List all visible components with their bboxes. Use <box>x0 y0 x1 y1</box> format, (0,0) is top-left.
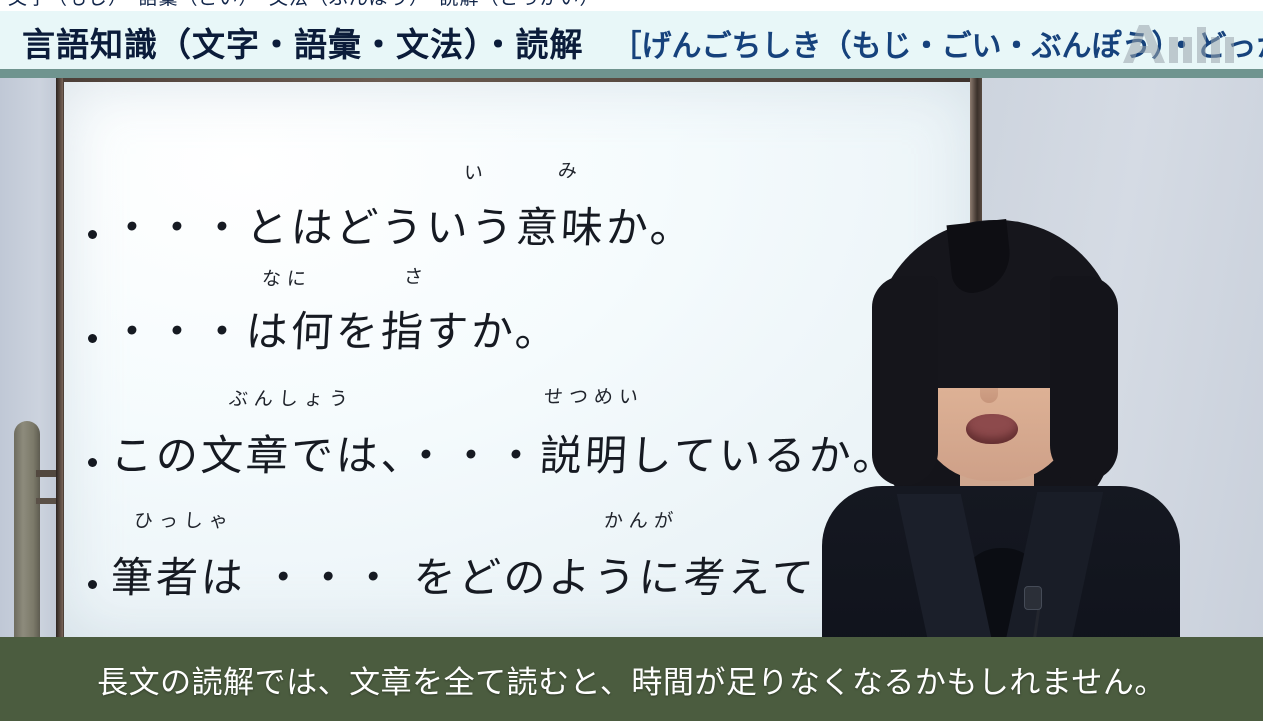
bullet-icon <box>88 334 97 343</box>
board-line-1-text: ・・・とはどういう意味か。 <box>109 194 696 255</box>
subtitle-bar: 長文の読解では、文章を全て読むと、時間が足りなくなるかもしれません。 <box>0 637 1263 721</box>
whiteboard-stand-pole <box>14 421 40 637</box>
ruby-line2-a: なに <box>261 264 313 291</box>
lesson-title-kana: ［げんごちしき（もじ・ごい・ぶんぽう）・どっかい］ <box>612 21 1263 65</box>
subtitle-text: 長文の読解では、文章を全て読むと、時間が足りなくなるかもしれません。 <box>97 657 1166 702</box>
presenter-hair-side-left <box>872 276 938 486</box>
presenter-mouth <box>966 414 1018 444</box>
presenter <box>800 156 1200 637</box>
board-line-2-text: ・・・は何を指すか。 <box>109 298 561 359</box>
clipped-top-text-row: 文字（もじ）・語彙（ごい）・文法（ぶんぽう）・読解（どっかい） <box>0 0 1263 11</box>
board-line-3-text: この文章では、・・・説明しているか。 <box>109 422 899 483</box>
classroom-stage: い み ・・・とはどういう意味か。 なに さ ・・・は何を指すか。 ぶんしょう … <box>0 78 1263 637</box>
board-line-2: ・・・は何を指すか。 <box>88 298 560 359</box>
board-line-3: この文章では、・・・説明しているか。 <box>88 422 898 483</box>
lapel-microphone-icon <box>1024 586 1042 610</box>
whiteboard-frame-left-edge <box>56 78 63 637</box>
bullet-icon <box>88 580 97 589</box>
ruby-line4-a: ひっしゃ <box>133 506 235 533</box>
ruby-line3-b: せつめい <box>543 382 645 409</box>
video-frame: 文字（もじ）・語彙（ごい）・文法（ぶんぽう）・読解（どっかい） 言語知識（文字・… <box>0 0 1263 721</box>
bullet-icon <box>88 458 97 467</box>
bullet-icon <box>88 230 97 239</box>
clipped-top-text: 文字（もじ）・語彙（ごい）・文法（ぶんぽう）・読解（どっかい） <box>8 0 600 10</box>
presenter-hair-side-right <box>1050 276 1118 481</box>
ruby-line1-b: み <box>557 156 584 183</box>
ruby-line4-b: かんが <box>603 506 680 533</box>
ruby-line1-a: い <box>463 158 490 185</box>
title-divider-rule <box>0 69 1263 78</box>
ruby-line3-a: ぶんしょう <box>228 384 355 411</box>
ruby-line2-b: さ <box>403 262 430 289</box>
title-bar: 言語知識（文字・語彙・文法）・読解 ［げんごちしき（もじ・ごい・ぶんぽう）・どっ… <box>0 11 1263 69</box>
lesson-title: 言語知識（文字・語彙・文法）・読解 <box>22 18 584 66</box>
title-group: 言語知識（文字・語彙・文法）・読解 ［げんごちしき（もじ・ごい・ぶんぽう）・どっ… <box>22 18 1263 66</box>
board-line-1: ・・・とはどういう意味か。 <box>88 194 695 255</box>
